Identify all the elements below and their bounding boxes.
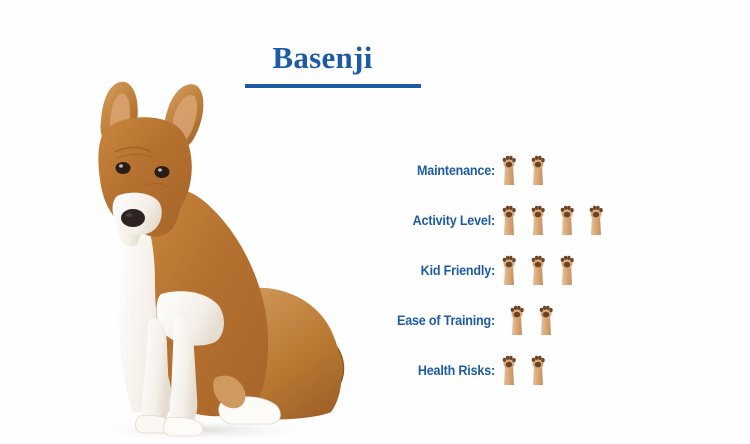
paw-icon	[586, 201, 606, 237]
trait-row: Ease of Training:	[360, 295, 640, 345]
trait-label: Maintenance:	[369, 163, 495, 178]
paw-icon	[499, 151, 519, 187]
paw-icon	[499, 201, 519, 237]
paw-icon	[536, 301, 556, 337]
trait-label: Health Risks:	[369, 363, 495, 378]
trait-row: Maintenance:	[360, 145, 640, 195]
trait-rating-paws	[499, 151, 557, 189]
dog-nose	[121, 209, 145, 227]
paw-icon	[528, 351, 548, 387]
paw-icon	[499, 351, 519, 387]
dog-eye-left	[116, 162, 131, 174]
paw-icon	[557, 251, 577, 287]
trait-rating-paws	[507, 301, 565, 339]
paw-icon	[528, 201, 548, 237]
dog-eye-right	[155, 166, 170, 178]
dog-shadow	[87, 418, 323, 442]
trait-rating-paws	[499, 201, 615, 239]
paw-icon	[499, 251, 519, 287]
paw-icon	[528, 251, 548, 287]
paw-icon	[528, 151, 548, 187]
breed-info-card: Basenji	[0, 0, 750, 444]
trait-rating-paws	[499, 251, 586, 289]
trait-rating-paws	[499, 351, 557, 389]
trait-label: Activity Level:	[369, 213, 495, 228]
trait-row: Health Risks:	[360, 345, 640, 395]
trait-row: Activity Level:	[360, 195, 640, 245]
trait-rating-list: Maintenance:	[360, 145, 640, 395]
dog-photo	[55, 78, 355, 444]
paw-icon	[557, 201, 577, 237]
paw-icon	[507, 301, 527, 337]
trait-label: Kid Friendly:	[369, 263, 495, 278]
trait-label: Ease of Training:	[369, 313, 495, 328]
trait-row: Kid Friendly:	[360, 245, 640, 295]
page-title: Basenji	[215, 41, 430, 75]
